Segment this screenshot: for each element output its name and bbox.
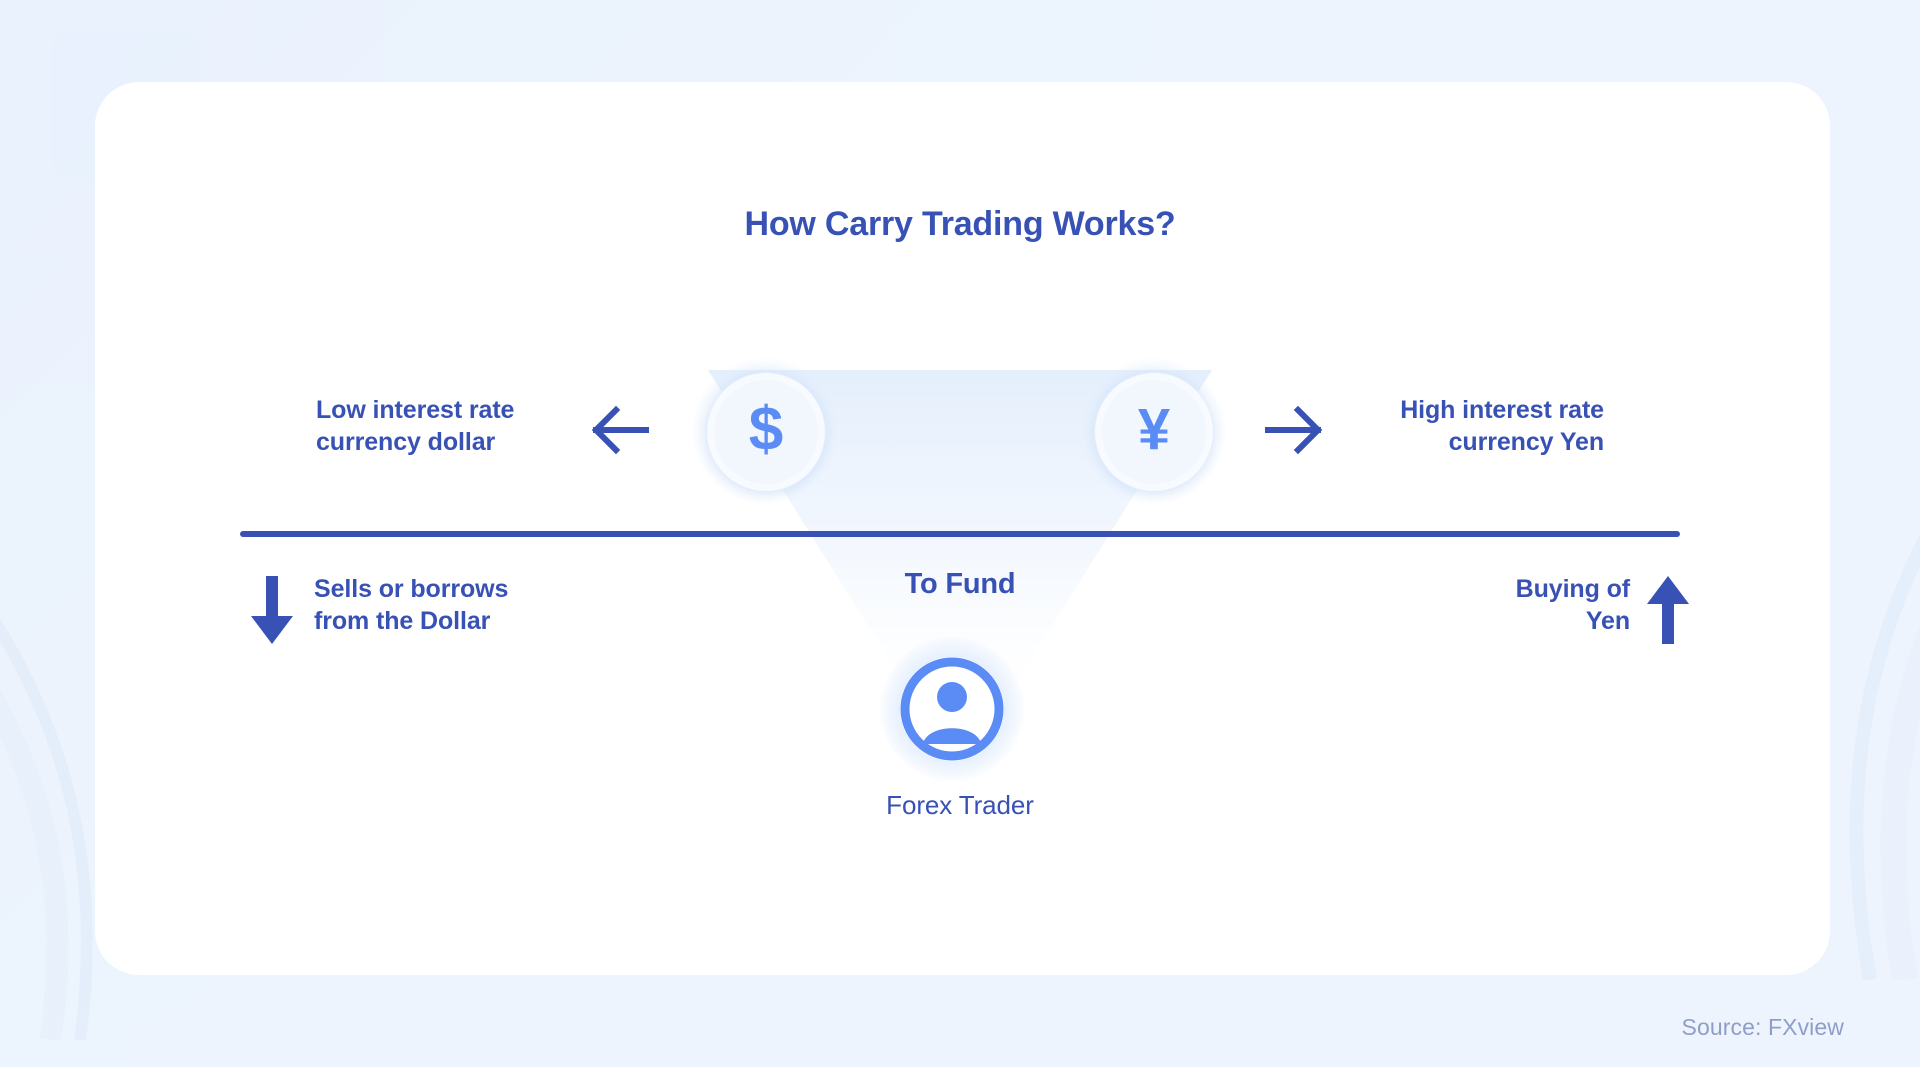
infographic-canvas: How Carry Trading Works? $ ¥ Low interes…: [0, 0, 1920, 1067]
low-interest-label-line2: currency dollar: [316, 426, 616, 458]
high-interest-label-line2: currency Yen: [1304, 426, 1604, 458]
forex-trader-caption: Forex Trader: [0, 790, 1920, 821]
source-attribution: Source: FXview: [1682, 1014, 1844, 1041]
yen-coin-body: ¥: [1094, 372, 1214, 492]
low-interest-label-line1: Low interest rate: [316, 394, 616, 426]
low-interest-label: Low interest rate currency dollar: [316, 394, 616, 458]
buying-yen-label-line2: Yen: [1370, 605, 1630, 637]
arrow-right-icon: [1262, 400, 1326, 460]
user-avatar-icon: [896, 653, 1008, 765]
yen-sign-glyph: ¥: [1138, 401, 1170, 459]
dollar-coin-body: $: [706, 372, 826, 492]
high-interest-label-line1: High interest rate: [1304, 394, 1604, 426]
divider-line: [240, 531, 1680, 537]
yen-coin-icon: ¥: [1094, 372, 1212, 490]
high-interest-label: High interest rate currency Yen: [1304, 394, 1604, 458]
to-fund-label: To Fund: [0, 568, 1920, 601]
dollar-sign-glyph: $: [749, 399, 783, 461]
page-title: How Carry Trading Works?: [0, 205, 1920, 244]
dollar-coin-icon: $: [706, 372, 824, 490]
arrow-left-icon: [588, 400, 652, 460]
avatar-glyph: [896, 653, 1008, 765]
sells-borrows-label-line2: from the Dollar: [314, 605, 614, 637]
